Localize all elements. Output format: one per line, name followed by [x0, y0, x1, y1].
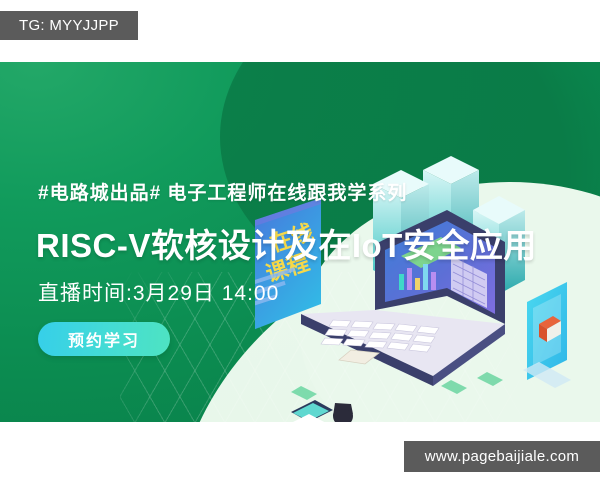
promo-banner: 在线 课程 [0, 62, 600, 422]
watermark-badge-bottom: www.pagebaijiale.com [404, 441, 600, 472]
watermark-badge-top: TG: MYYJJPP [0, 11, 138, 40]
banner-subtitle: #电路城出品# 电子工程师在线跟我学系列 [38, 178, 407, 205]
reserve-learning-button[interactable]: 预约学习 [38, 322, 170, 356]
banner-datetime: 直播时间:3月29日 14:00 [38, 277, 279, 307]
banner-title: RISC-V软核设计及在IoT安全应用 [36, 219, 537, 267]
